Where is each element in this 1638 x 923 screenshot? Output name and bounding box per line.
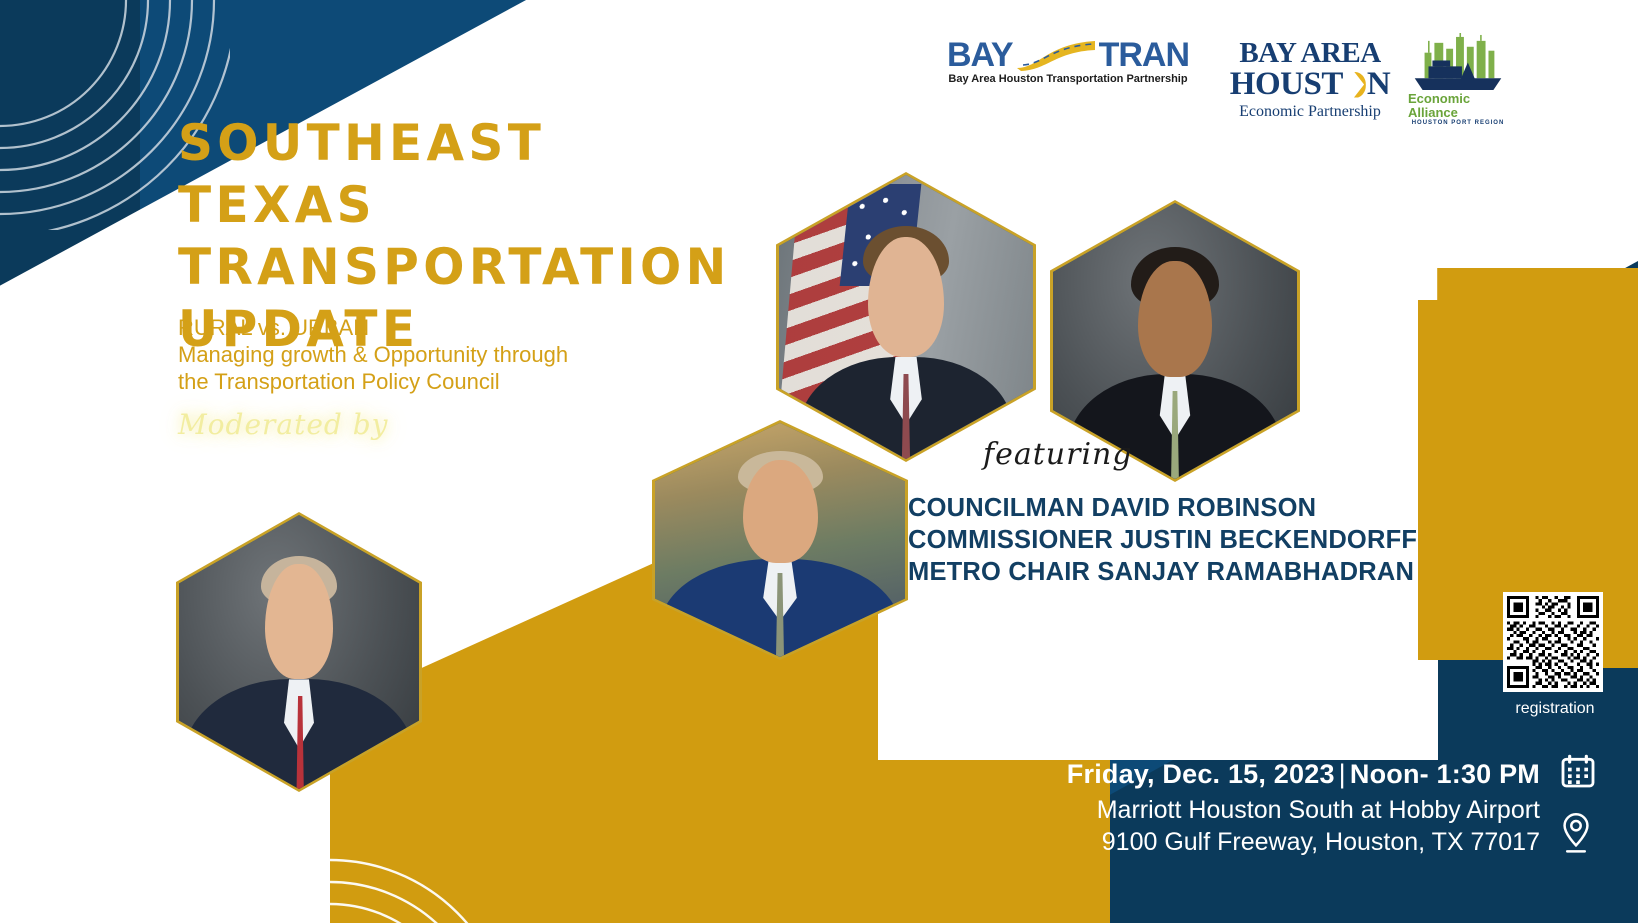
bahep-line-3: Economic Partnership	[1239, 102, 1381, 121]
bahep-line-1: BAY AREA	[1239, 38, 1380, 68]
moderator-name: MAYOR KEVIN COLE	[178, 455, 551, 497]
bahep-line-2: HOUST N	[1230, 68, 1390, 101]
baytran-logo: BAY TRAN Bay Area Houston Transportation…	[920, 27, 1216, 95]
road-graphic-icon	[1013, 38, 1099, 72]
featured-speakers-list: COUNCILMAN DAVID ROBINSON COMMISSIONER J…	[908, 492, 1417, 588]
bahep-n-text: N	[1367, 68, 1390, 101]
crescent-moon-icon	[1344, 72, 1366, 98]
economic-alliance-name: Economic Alliance	[1408, 92, 1508, 120]
baytran-word-tran: TRAN	[1099, 38, 1189, 72]
event-flyer: SOUTHEAST TEXAS TRANSPORTATION UPDATE RU…	[0, 0, 1638, 923]
subtitle-block: RURAL vs. URBAN Managing growth & Opport…	[178, 314, 648, 395]
location-pin-icon	[1558, 811, 1594, 855]
event-time: Noon- 1:30 PM	[1350, 759, 1540, 789]
featured-speaker-1: COUNCILMAN DAVID ROBINSON	[908, 492, 1417, 524]
event-datetime-line: Friday, Dec. 15, 2023|Noon- 1:30 PM	[1067, 759, 1540, 790]
concentric-arcs-bottom-left	[120, 790, 540, 923]
datetime-separator: |	[1335, 759, 1350, 789]
port-skyline-icon	[1410, 33, 1506, 92]
registration-qr-block[interactable]: registration	[1503, 592, 1603, 692]
featuring-label: featuring	[983, 437, 1133, 472]
baytran-word-bay: BAY	[947, 38, 1013, 72]
event-address: 9100 Gulf Freeway, Houston, TX 77017	[1067, 828, 1540, 857]
featured-speaker-3: METRO CHAIR SANJAY RAMABHADRAN	[908, 556, 1417, 588]
featured-speaker-2: COMMISSIONER JUSTIN BECKENDORFF	[908, 524, 1417, 556]
economic-alliance-sub: HOUSTON PORT REGION	[1412, 120, 1505, 126]
subtitle-line-3: the Transportation Policy Council	[178, 368, 648, 395]
sponsor-logo-strip: BAY TRAN Bay Area Houston Transportation…	[920, 27, 1512, 132]
subtitle-line-1: RURAL vs. URBAN	[178, 314, 648, 341]
subtitle-line-2: Managing growth & Opportunity through	[178, 341, 648, 368]
event-details: Friday, Dec. 15, 2023|Noon- 1:30 PM Marr…	[1067, 759, 1540, 857]
event-date: Friday, Dec. 15, 2023	[1067, 759, 1335, 789]
baytran-tagline: Bay Area Houston Transportation Partners…	[948, 73, 1187, 85]
calendar-icon	[1558, 751, 1598, 791]
moderated-by-label: Moderated by	[178, 408, 389, 441]
bahep-houst-text: HOUST	[1230, 68, 1343, 101]
qr-code-icon[interactable]	[1503, 592, 1603, 692]
event-venue: Marriott Houston South at Hobby Airport	[1067, 796, 1540, 825]
qr-registration-label: registration	[1499, 700, 1611, 718]
economic-alliance-logo: Economic Alliance HOUSTON PORT REGION	[1404, 27, 1512, 132]
bay-area-houston-logo: BAY AREA HOUST N Economic Partnership	[1216, 27, 1404, 132]
